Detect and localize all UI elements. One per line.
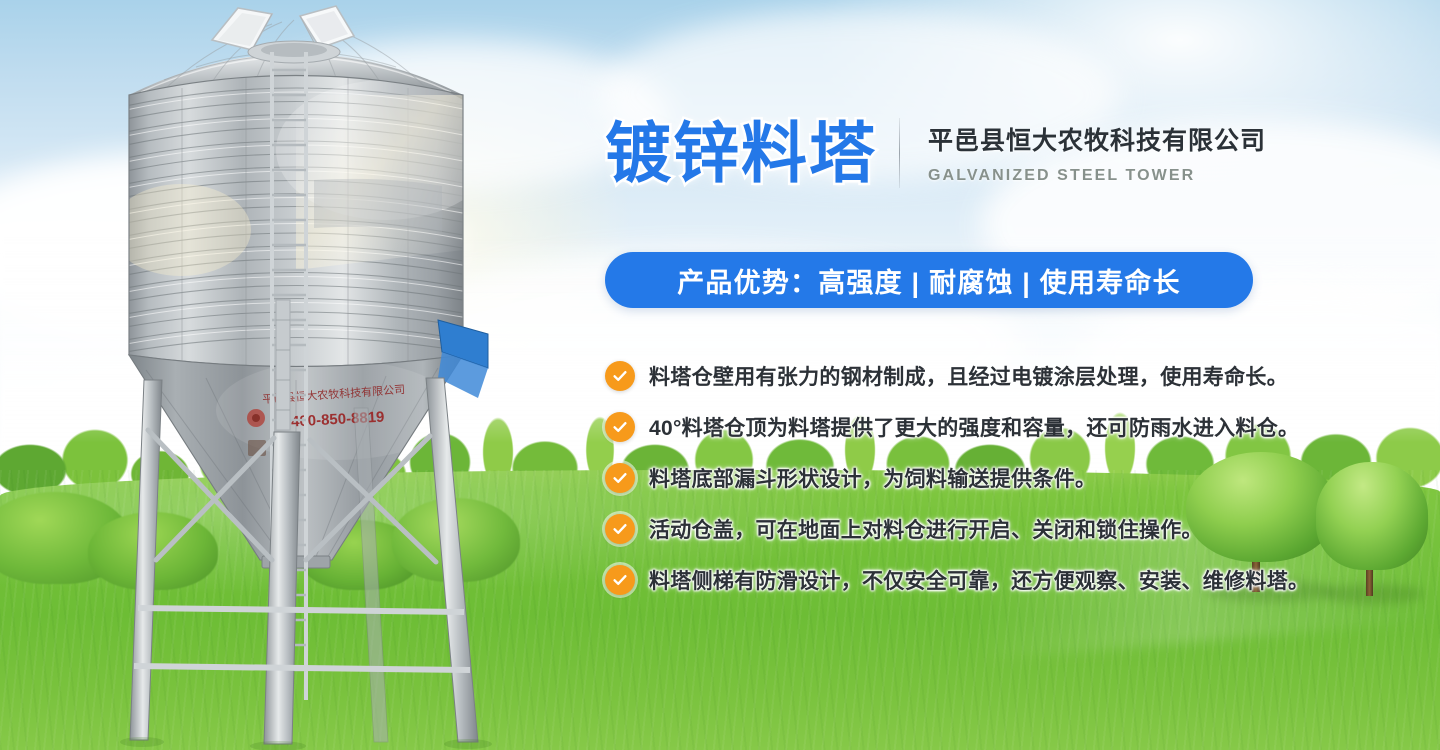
list-item: 料塔仓壁用有张力的钢材制成，且经过电镀涂层处理，使用寿命长。 <box>605 350 1435 401</box>
company-name-cn: 平邑县恒大农牧科技有限公司 <box>928 121 1266 157</box>
advantage-pill-label: 产品优势：高强度 | 耐腐蚀 | 使用寿命长 <box>677 261 1181 300</box>
check-circle-icon <box>605 514 635 544</box>
galvanized-feed-tower-image: 平邑县恒大农牧科技有限公司 400-850-8819 <box>86 0 506 750</box>
check-circle-icon <box>605 463 635 493</box>
list-item: 料塔侧梯有防滑设计，不仅安全可靠，还方便观察、安装、维修料塔。 <box>605 554 1435 605</box>
headline-row: 镀锌料塔 平邑县恒大农牧科技有限公司 GALVANIZED STEEL TOWE… <box>605 118 1266 188</box>
list-item: 40°料塔仓顶为料塔提供了更大的强度和容量，还可防雨水进入料仓。 <box>605 401 1435 452</box>
banner-content: 镀锌料塔 平邑县恒大农牧科技有限公司 GALVANIZED STEEL TOWE… <box>600 0 1440 750</box>
feature-text: 料塔仓壁用有张力的钢材制成，且经过电镀涂层处理，使用寿命长。 <box>649 361 1288 391</box>
list-item: 料塔底部漏斗形状设计，为饲料输送提供条件。 <box>605 452 1435 503</box>
list-item: 活动仓盖，可在地面上对料仓进行开启、关闭和锁住操作。 <box>605 503 1435 554</box>
check-circle-icon <box>605 565 635 595</box>
company-name-en: GALVANIZED STEEL TOWER <box>928 167 1266 185</box>
feature-text: 活动仓盖，可在地面上对料仓进行开启、关闭和锁住操作。 <box>649 514 1203 544</box>
advantage-pill[interactable]: 产品优势：高强度 | 耐腐蚀 | 使用寿命长 <box>605 252 1253 308</box>
banner-stage: 平邑县恒大农牧科技有限公司 400-850-8819 <box>0 0 1440 750</box>
feature-text: 料塔底部漏斗形状设计，为饲料输送提供条件。 <box>649 463 1096 493</box>
check-circle-icon <box>605 361 635 391</box>
feature-text: 40°料塔仓顶为料塔提供了更大的强度和容量，还可防雨水进入料仓。 <box>649 412 1299 442</box>
brand-block: 平邑县恒大农牧科技有限公司 GALVANIZED STEEL TOWER <box>928 121 1266 185</box>
feature-list: 料塔仓壁用有张力的钢材制成，且经过电镀涂层处理，使用寿命长。 40°料塔仓顶为料… <box>605 350 1435 605</box>
title-divider <box>899 118 900 188</box>
page-title: 镀锌料塔 <box>605 120 877 186</box>
feature-text: 料塔侧梯有防滑设计，不仅安全可靠，还方便观察、安装、维修料塔。 <box>649 565 1309 595</box>
check-circle-icon <box>605 412 635 442</box>
